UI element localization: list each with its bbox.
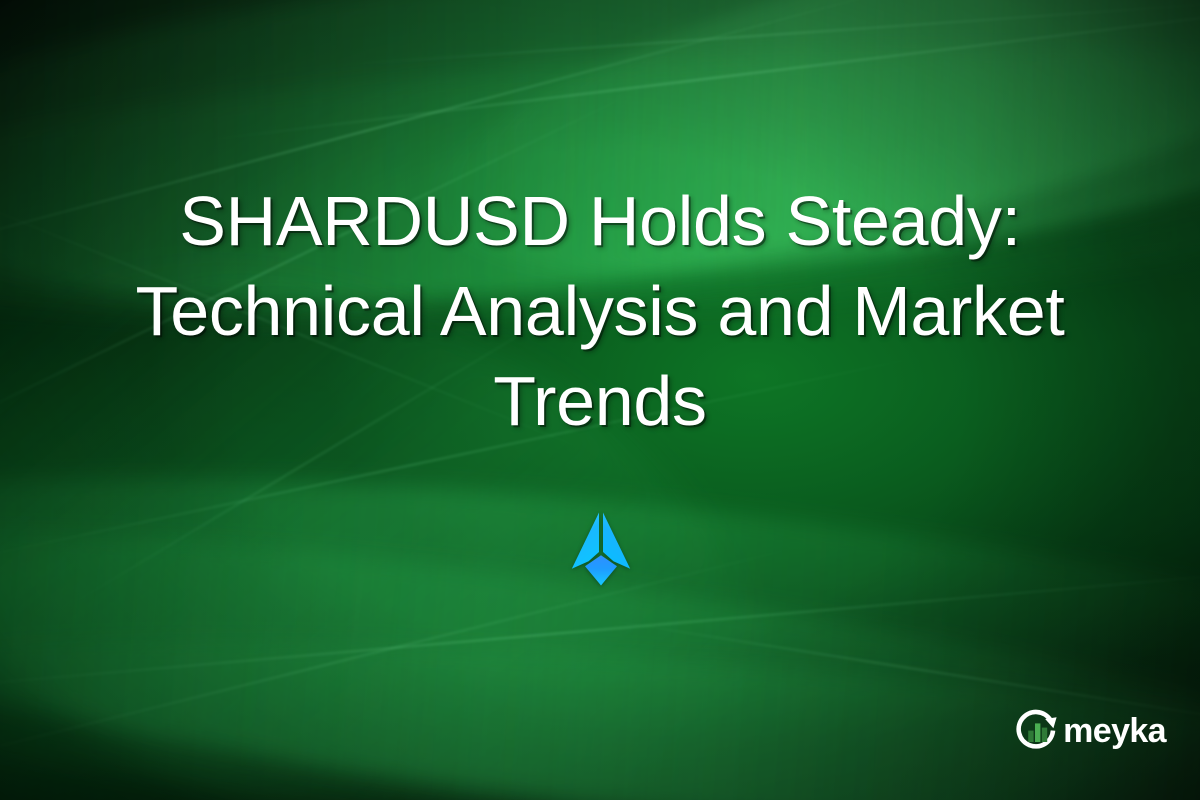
share-card-canvas: SHARDUSD Holds Steady: Technical Analysi… <box>0 0 1200 800</box>
meyka-watermark: meyka <box>1015 708 1166 754</box>
shard-arrowhead-icon <box>570 511 632 587</box>
meyka-brand-text: meyka <box>1063 714 1166 748</box>
meyka-growth-ring-icon <box>1015 708 1061 754</box>
page-title: SHARDUSD Holds Steady: Technical Analysi… <box>0 176 1200 446</box>
